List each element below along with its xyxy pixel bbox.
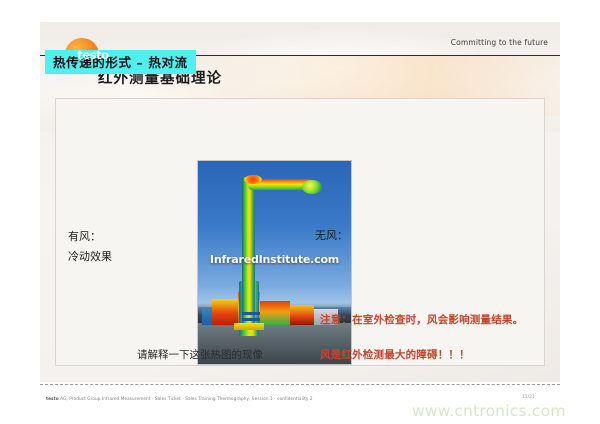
thermal-tower-shaft [242, 177, 255, 327]
thermal-tower-arm-tip [302, 180, 322, 194]
presentation-slide: Committing to the future testo 红外测量基础理论 … [40, 22, 560, 382]
thermal-sign-stripe [242, 312, 260, 315]
page-number: 11/21 [522, 395, 535, 400]
thermal-image: InfraredInstitute.com [197, 160, 352, 365]
warning-secondary-text: 风是红外检测最大的障碍！！！ [320, 347, 470, 362]
warning-primary-text: 注意：在室外检查时，风会影响测量结果。 [320, 312, 523, 327]
discussion-question-text: 请解释一下这张热图的现像 [137, 347, 263, 362]
thermal-hotspot [244, 175, 262, 184]
left-annotation-label: 有风： [68, 227, 112, 247]
left-annotation: 有风： 冷动效果 [68, 227, 112, 267]
image-watermark: InfraredInstitute.com [198, 253, 351, 266]
footer-divider [40, 384, 560, 385]
brand-tagline: Committing to the future [451, 38, 548, 47]
footer-source-text: testo AG, Product Group Infrared Measure… [46, 396, 313, 401]
site-watermark: www.cntronics.com [412, 402, 566, 420]
thermal-structure [260, 301, 290, 325]
thermal-sign-stripe [242, 318, 260, 321]
thermal-tower-base [234, 323, 264, 330]
right-annotation-label: 无风： [315, 227, 348, 243]
testo-logo-text: testo [65, 48, 121, 62]
footer-source-detail: AG, Product Group Infrared Measurement ·… [59, 396, 313, 401]
thermal-structure [290, 305, 314, 325]
footer-brand: testo [46, 396, 59, 401]
left-annotation-sublabel: 冷动效果 [68, 247, 112, 267]
